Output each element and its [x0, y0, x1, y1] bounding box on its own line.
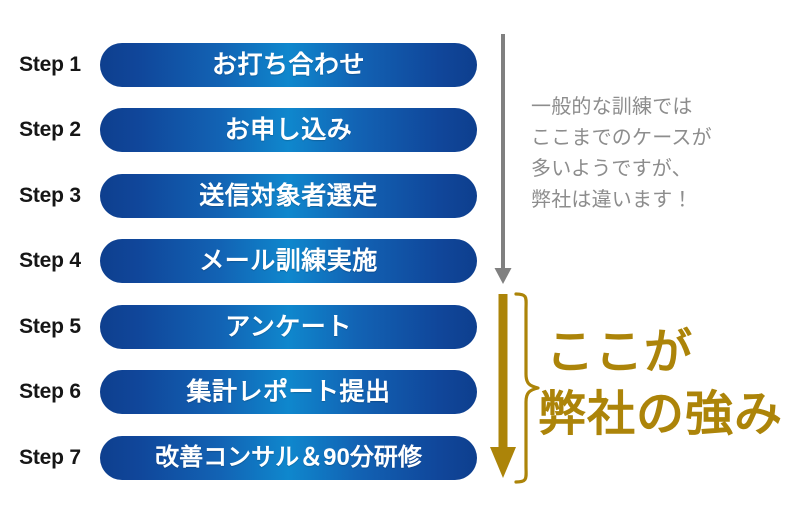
step-pill-label-6: 集計レポート提出 — [186, 380, 390, 405]
step-label-1: Step 1 — [0, 53, 100, 77]
step-row: Step 6 集計レポート提出 — [0, 366, 500, 418]
step-pill-label-2: お申し込み — [225, 118, 353, 143]
step-pill-6[interactable]: 集計レポート提出 — [100, 370, 477, 414]
step-label-5: Step 5 — [0, 315, 100, 339]
step-row: Step 5 アンケート — [0, 301, 500, 353]
strength-headline-line-2: 弊社の強み — [538, 384, 800, 446]
step-pill-4[interactable]: メール訓練実施 — [100, 239, 477, 283]
step-pill-label-5: アンケート — [225, 315, 352, 340]
general-training-note: 一般的な訓練では ここまでのケースが 多いようですが、 弊社は違います！ — [531, 92, 781, 216]
note-line-1: 一般的な訓練では — [531, 92, 781, 123]
step-pill-label-7: 改善コンサル＆90分研修 — [155, 446, 422, 470]
step-pill-2[interactable]: お申し込み — [100, 108, 477, 152]
strength-headline-line-1: ここが — [546, 322, 800, 384]
gray-down-arrow-icon — [492, 34, 514, 286]
step-pill-label-1: お打ち合わせ — [212, 53, 365, 78]
step-pill-5[interactable]: アンケート — [100, 305, 477, 349]
note-line-3: 多いようですが、 — [531, 154, 781, 185]
step-row: Step 3 送信対象者選定 — [0, 170, 500, 222]
process-flow-diagram: Step 1 お打ち合わせ Step 2 お申し込み Step 3 送信対象者選… — [0, 0, 800, 520]
step-label-6: Step 6 — [0, 380, 100, 404]
note-line-4: 弊社は違います！ — [531, 185, 781, 216]
step-pill-3[interactable]: 送信対象者選定 — [100, 174, 477, 218]
step-pill-label-3: 送信対象者選定 — [199, 184, 378, 209]
step-pill-7[interactable]: 改善コンサル＆90分研修 — [100, 436, 477, 480]
strength-headline: ここが 弊社の強み — [546, 322, 800, 446]
step-label-3: Step 3 — [0, 184, 100, 208]
step-row: Step 4 メール訓練実施 — [0, 235, 500, 287]
step-pill-label-4: メール訓練実施 — [199, 249, 378, 274]
step-row: Step 2 お申し込み — [0, 104, 500, 156]
step-label-2: Step 2 — [0, 118, 100, 142]
step-pill-1[interactable]: お打ち合わせ — [100, 43, 477, 87]
step-label-4: Step 4 — [0, 249, 100, 273]
note-line-2: ここまでのケースが — [531, 123, 781, 154]
step-row: Step 7 改善コンサル＆90分研修 — [0, 432, 500, 484]
step-label-7: Step 7 — [0, 446, 100, 470]
step-row: Step 1 お打ち合わせ — [0, 39, 500, 91]
